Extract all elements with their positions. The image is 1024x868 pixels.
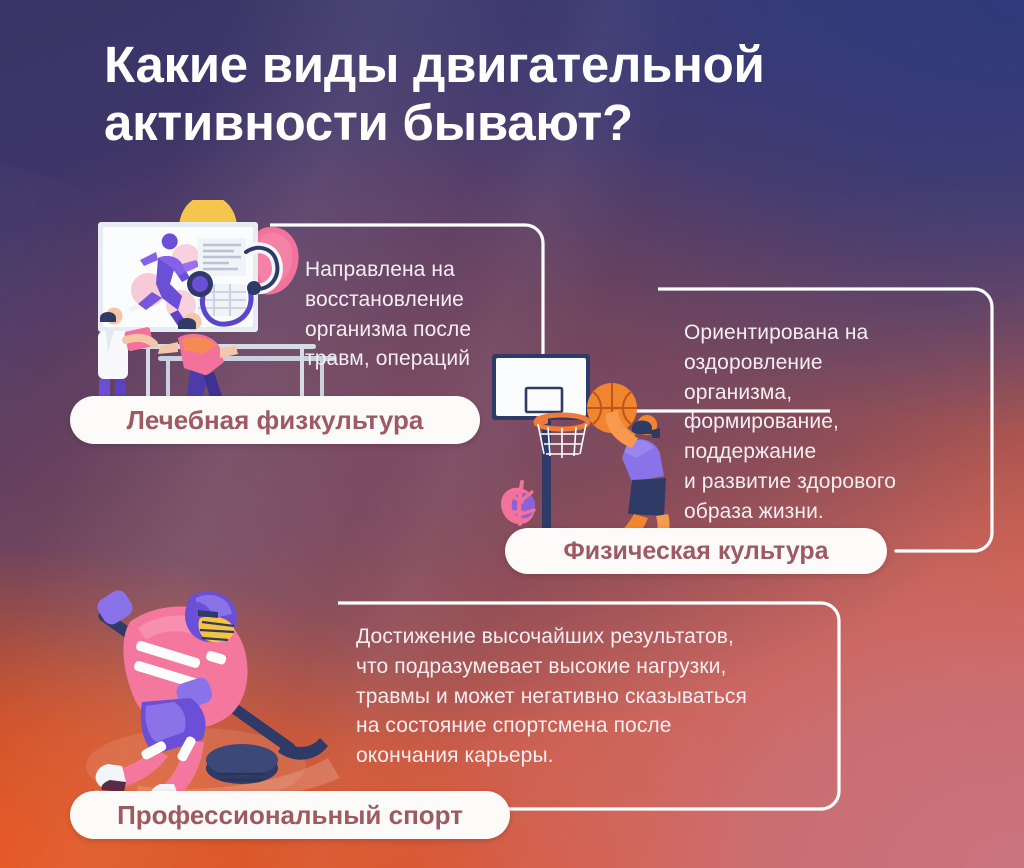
label-pill-professional-sport[interactable]: Профессиональный спорт [70, 791, 510, 839]
hockey-glove-graphic [94, 588, 136, 628]
description-professional-sport: Достижение высочайших результатов, что п… [356, 622, 856, 771]
pill-label: Лечебная физкультура [127, 405, 424, 436]
description-physical-culture: Ориентирована на оздоровление организма,… [684, 318, 974, 527]
hockey-helmet-graphic [185, 592, 237, 643]
poster-canvas: Какие виды двигательной активности бываю… [0, 0, 1024, 868]
basketball-player-icon [488, 348, 688, 553]
page-title: Какие виды двигательной активности бываю… [104, 36, 984, 151]
label-pill-therapeutic-physical-culture[interactable]: Лечебная физкультура [70, 396, 480, 444]
hockey-puck-graphic [206, 744, 278, 784]
label-pill-physical-culture[interactable]: Физическая культура [505, 528, 887, 574]
pill-label: Профессиональный спорт [117, 800, 463, 831]
pill-label: Физическая культура [563, 537, 828, 566]
plant-decor-graphic [501, 482, 536, 524]
description-therapeutic-physical-culture: Направлена на восстановление организма п… [305, 255, 575, 374]
hockey-player-icon [78, 588, 388, 823]
